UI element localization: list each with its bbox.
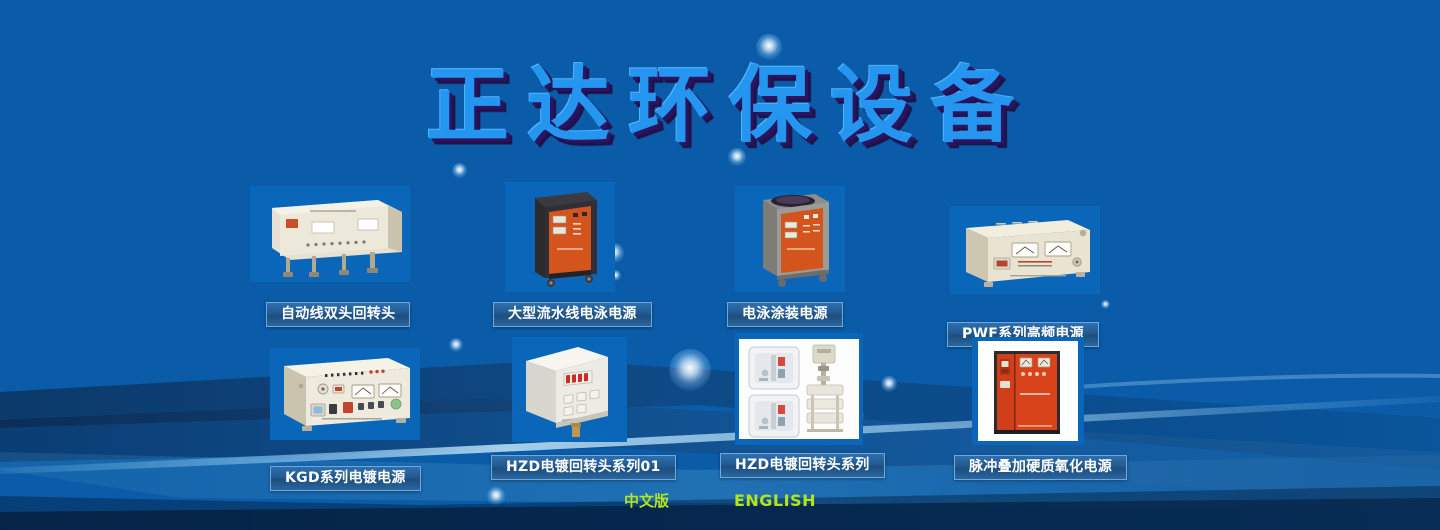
product-label[interactable]: 脉冲叠加硬质氧化电源 xyxy=(954,455,1127,480)
product-grid: 自动线双头回转头 xyxy=(250,186,1200,487)
product-label[interactable]: HZD电镀回转头系列01 xyxy=(491,455,676,480)
pwf-series-high-frequency-power-supply-photo xyxy=(950,206,1100,294)
product-label[interactable]: KGD系列电镀电源 xyxy=(270,466,421,491)
page-title: 正达环保设备 xyxy=(408,58,1032,153)
language-bar: 中文版 ENGLISH xyxy=(0,490,1440,511)
hzd-electroplating-rotary-head-series-photo xyxy=(735,333,863,445)
product-label[interactable]: HZD电镀回转头系列 xyxy=(720,453,885,478)
bokeh-dot xyxy=(452,163,467,178)
large-assembly-line-electrophoresis-power-supply-photo xyxy=(505,182,615,292)
product-label[interactable]: 大型流水线电泳电源 xyxy=(493,302,652,327)
chinese-version-link[interactable]: 中文版 xyxy=(624,490,669,511)
product-label[interactable]: 电泳涂装电源 xyxy=(727,302,843,327)
english-version-link[interactable]: ENGLISH xyxy=(734,491,816,510)
product-row: KGD系列电镀电源 xyxy=(250,337,1200,487)
kgd-series-electroplating-power-supply-photo xyxy=(270,348,420,440)
banner-title-wrap: 正达环保设备 xyxy=(0,58,1440,153)
hzd-electroplating-rotary-head-series-01-photo xyxy=(512,337,627,442)
automatic-line-double-head-rotary-unit-photo xyxy=(250,186,410,282)
product-label[interactable]: 自动线双头回转头 xyxy=(266,302,410,327)
electrophoretic-coating-power-supply-photo xyxy=(735,186,845,292)
product-row: 自动线双头回转头 xyxy=(250,186,1200,336)
banner-stage: 正达环保设备 xyxy=(0,0,1440,530)
pulse-superimposed-hard-anodizing-power-supply-photo xyxy=(972,337,1084,445)
